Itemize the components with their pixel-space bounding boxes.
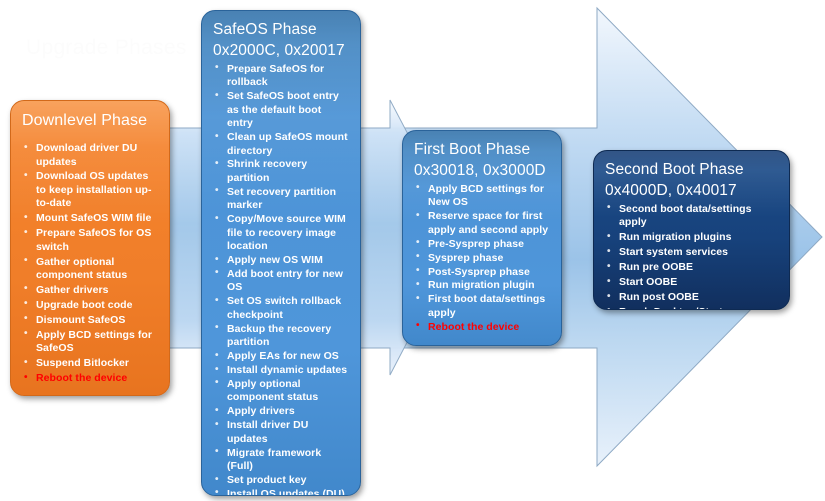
phase-card-second-boot[interactable]: Second Boot Phase 0x4000D, 0x40017 Secon… bbox=[593, 150, 790, 310]
upgrade-phases-diagram: Upgrade Phases Downlevel Phase Download … bbox=[0, 0, 825, 501]
phase-task-item: Reach Desktop/Start screen bbox=[605, 306, 779, 310]
phase-task-item: Reserve space for first apply and second… bbox=[414, 210, 551, 237]
phase-task-item: Start system services bbox=[605, 246, 779, 259]
phase-task-item: Gather optional component status bbox=[22, 256, 159, 283]
phase-task-item: Set SafeOS boot entry as the default boo… bbox=[213, 90, 350, 130]
phase-task-list-first-boot: Apply BCD settings for New OSReserve spa… bbox=[414, 183, 551, 334]
phase-task-item: Apply drivers bbox=[213, 405, 350, 418]
phase-task-item: Apply BCD settings for New OS bbox=[414, 183, 551, 210]
phase-task-list-second-boot: Second boot data/settings applyRun migra… bbox=[605, 203, 779, 310]
phase-card-first-boot[interactable]: First Boot Phase 0x30018, 0x3000D Apply … bbox=[402, 130, 562, 346]
phase-task-item: Gather drivers bbox=[22, 284, 159, 297]
phase-task-item: Migrate framework (Full) bbox=[213, 447, 350, 474]
phase-card-safeos[interactable]: SafeOS Phase 0x2000C, 0x20017 Prepare Sa… bbox=[201, 10, 361, 496]
phase-task-item: Apply BCD settings for SafeOS bbox=[22, 329, 159, 356]
phase-task-item: Install dynamic updates bbox=[213, 364, 350, 377]
phase-task-item: Install driver DU updates bbox=[213, 419, 350, 446]
phase-task-item: Run pre OOBE bbox=[605, 261, 779, 274]
phase-task-list-downlevel: Download driver DU updatesDownload OS up… bbox=[22, 142, 159, 385]
phase-task-item: Reboot the device bbox=[414, 321, 551, 334]
phase-task-item: Run post OOBE bbox=[605, 291, 779, 304]
phase-task-item: Shrink recovery partition bbox=[213, 158, 350, 185]
phase-title-safeos: SafeOS Phase bbox=[213, 20, 350, 40]
phase-task-item: Clean up SafeOS mount directory bbox=[213, 131, 350, 158]
phase-task-item: Set OS switch rollback checkpoint bbox=[213, 295, 350, 322]
phase-title-downlevel: Downlevel Phase bbox=[22, 110, 159, 131]
phase-card-downlevel[interactable]: Downlevel Phase Download driver DU updat… bbox=[10, 100, 170, 396]
phase-task-item: Prepare SafeOS for rollback bbox=[213, 63, 350, 90]
phase-task-item: Prepare SafeOS for OS switch bbox=[22, 227, 159, 254]
phase-task-item: Dismount SafeOS bbox=[22, 314, 159, 327]
phase-title-second-boot: Second Boot Phase bbox=[605, 160, 779, 180]
phase-task-item: Suspend Bitlocker bbox=[22, 357, 159, 370]
phase-task-item: Apply new OS WIM bbox=[213, 254, 350, 267]
phase-title-first-boot: First Boot Phase bbox=[414, 140, 551, 160]
phase-task-item: Reboot the device bbox=[22, 372, 159, 385]
phase-task-item: Post-Sysprep phase bbox=[414, 266, 551, 279]
phase-task-item: Add boot entry for new OS bbox=[213, 268, 350, 295]
phase-task-item: Apply optional component status bbox=[213, 378, 350, 405]
phase-task-item: Set recovery partition marker bbox=[213, 186, 350, 213]
phase-task-item: Set product key bbox=[213, 474, 350, 487]
watermark-text: Upgrade Phases bbox=[26, 36, 187, 60]
phase-task-item: Apply EAs for new OS bbox=[213, 350, 350, 363]
phase-task-item: Backup the recovery partition bbox=[213, 323, 350, 350]
phase-task-item: Run migration plugins bbox=[605, 231, 779, 244]
phase-task-item: Upgrade boot code bbox=[22, 299, 159, 312]
phase-task-item: Start OOBE bbox=[605, 276, 779, 289]
phase-task-item: Sysprep phase bbox=[414, 252, 551, 265]
phase-task-item: Second boot data/settings apply bbox=[605, 203, 779, 230]
phase-task-item: Mount SafeOS WIM file bbox=[22, 212, 159, 225]
phase-task-item: Download OS updates to keep installation… bbox=[22, 170, 159, 210]
phase-task-item: Install OS updates (DU) bbox=[213, 488, 350, 496]
phase-codes-first-boot: 0x30018, 0x3000D bbox=[414, 161, 551, 181]
phase-task-item: Pre-Sysprep phase bbox=[414, 238, 551, 251]
phase-task-item: Download driver DU updates bbox=[22, 142, 159, 169]
phase-task-item: Copy/Move source WIM file to recovery im… bbox=[213, 213, 350, 253]
phase-task-list-safeos: Prepare SafeOS for rollbackSet SafeOS bo… bbox=[213, 63, 350, 496]
phase-codes-safeos: 0x2000C, 0x20017 bbox=[213, 41, 350, 61]
phase-task-item: Run migration plugin bbox=[414, 279, 551, 292]
phase-codes-second-boot: 0x4000D, 0x40017 bbox=[605, 181, 779, 201]
phase-task-item: First boot data/settings apply bbox=[414, 293, 551, 320]
